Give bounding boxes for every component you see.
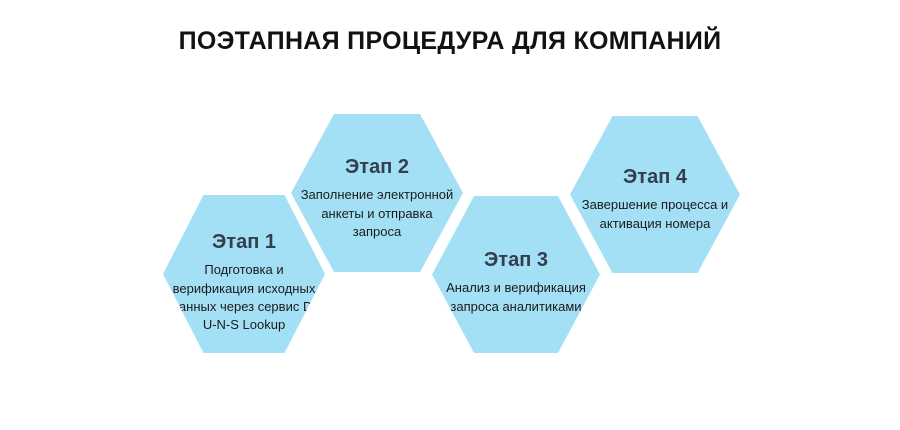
stage-1-heading: Этап 1 — [169, 231, 319, 254]
stage-hexagon-4[interactable]: Этап 4 Завершение процесса и активация н… — [570, 116, 740, 273]
stage-1-body: Подготовка и верификация исходных данных… — [169, 261, 319, 335]
stage-hexagon-3[interactable]: Этап 3 Анализ и верификация запроса анал… — [432, 196, 600, 353]
stage-4-content: Этап 4 Завершение процесса и активация н… — [570, 166, 740, 233]
stage-hexagon-1[interactable]: Этап 1 Подготовка и верификация исходных… — [163, 195, 325, 353]
stage-3-content: Этап 3 Анализ и верификация запроса анал… — [432, 249, 600, 316]
page-title: ПОЭТАПНАЯ ПРОЦЕДУРА ДЛЯ КОМПАНИЙ — [0, 27, 900, 56]
stage-hexagon-2[interactable]: Этап 2 Заполнение электронной анкеты и о… — [291, 114, 463, 272]
stage-2-heading: Этап 2 — [297, 156, 457, 179]
stage-1-content: Этап 1 Подготовка и верификация исходных… — [163, 231, 325, 335]
stage-3-heading: Этап 3 — [438, 249, 594, 272]
stage-2-body: Заполнение электронной анкеты и отправка… — [297, 186, 457, 241]
stage-2-content: Этап 2 Заполнение электронной анкеты и о… — [291, 156, 463, 241]
stage-3-body: Анализ и верификация запроса аналитиками — [438, 279, 594, 316]
stage-4-body: Завершение процесса и активация номера — [576, 196, 734, 233]
stage-4-heading: Этап 4 — [576, 166, 734, 189]
infographic-canvas: ПОЭТАПНАЯ ПРОЦЕДУРА ДЛЯ КОМПАНИЙ Этап 1 … — [0, 0, 900, 430]
